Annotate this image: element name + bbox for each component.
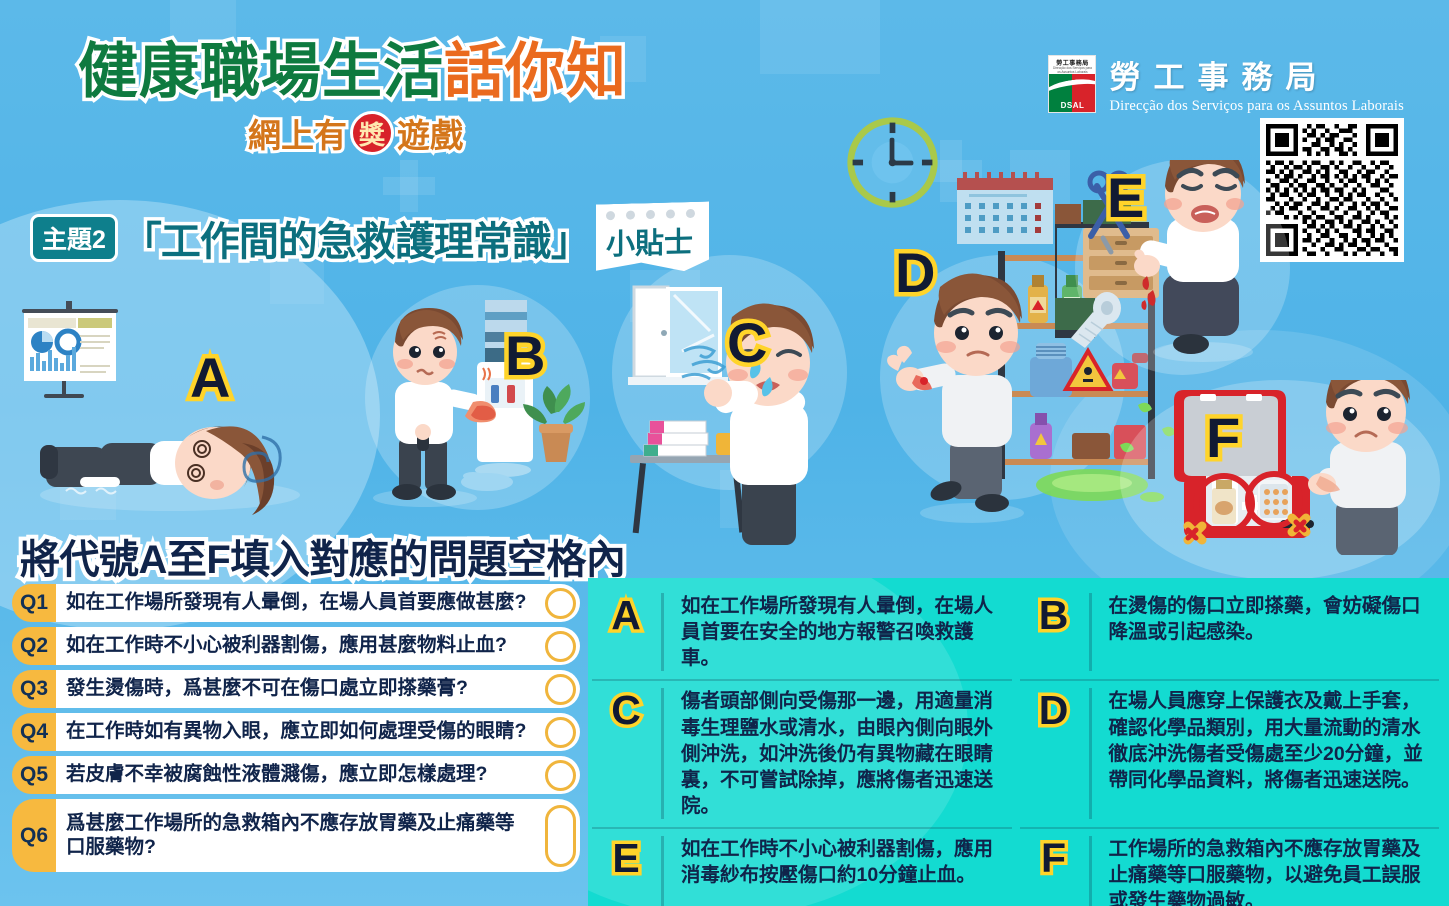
answer-circle[interactable] <box>545 717 576 748</box>
subtitle-right-text: 遊戲 <box>397 109 463 157</box>
fainted-person-illustration <box>40 426 300 515</box>
answer-circle[interactable] <box>545 588 576 619</box>
answer-text: 在燙傷的傷口立即搽藥，會妨礙傷口降溫或引起感染。 <box>1101 593 1434 645</box>
scene-b: B <box>355 290 605 535</box>
scene-letter-b: B <box>505 328 545 384</box>
answer-slot[interactable] <box>540 584 580 622</box>
sticky-note-holes <box>606 209 695 220</box>
answer-cell: D 在場人員應穿上保護衣及戴上手套，確認化學品類別，用大量流動的清水徹底沖洗傷者… <box>1020 681 1440 829</box>
answer-letter: B <box>1028 593 1080 636</box>
logo-name-cn: 勞工事務局 <box>1109 52 1404 97</box>
scene-letter-e: E <box>1107 170 1144 226</box>
scene-e: E <box>1055 160 1365 400</box>
scene-letter-f: F <box>1206 410 1240 466</box>
clock-icon <box>845 115 940 210</box>
answer-cell: A 如在工作場所發現有人暈倒，在場人員首要在安全的地方報警召喚救護車。 <box>592 586 1012 681</box>
theme-tag: 主題2 <box>30 214 118 262</box>
scene-letter-a: A <box>190 350 230 406</box>
scene-c: C <box>612 255 912 545</box>
answer-cell: E 如在工作時不小心被利器割傷，應用消毒紗布按壓傷口約10分鐘止血。 <box>592 829 1012 906</box>
question-row[interactable]: Q6 爲甚麼工作場所的急救箱內不應存放胃藥及止痛藥等口服藥物? <box>12 799 580 872</box>
answer-letter: F <box>1028 836 1080 879</box>
scene-f: F <box>1140 380 1449 555</box>
calendar-icon <box>955 170 1055 248</box>
question-row[interactable]: Q2 如在工作時不小心被利器割傷，應用甚麼物料止血? <box>12 627 580 665</box>
title-orange-text: 話你知 <box>444 38 627 105</box>
answer-text: 如在工作場所發現有人暈倒，在場人員首要在安全的地方報警召喚救護車。 <box>673 593 1006 671</box>
chemical-burn-worker-illustration <box>887 273 1024 523</box>
answer-text: 傷者頭部側向受傷那一邊，用適量消毒生理鹽水或清水，由眼內側向眼外側沖洗，如沖洗後… <box>673 688 1006 819</box>
answer-text: 在場人員應穿上保護衣及戴上手套，確認化學品類別，用大量流動的清水徹底沖洗傷者受傷… <box>1101 688 1434 793</box>
bg-cross-icon <box>383 177 435 195</box>
question-row[interactable]: Q4 在工作時如有異物入眼，應立即如何處理受傷的眼睛? <box>12 713 580 751</box>
logo-text-block: 勞工事務局 Direcção dos Serviços para os Assu… <box>1109 52 1404 115</box>
logo-name-pt: Direcção dos Serviços para os Assuntos L… <box>1109 98 1404 115</box>
scene-letter-d: D <box>895 245 935 301</box>
answer-divider <box>1089 836 1092 906</box>
answer-text: 工作場所的急救箱內不應存放胃藥及止痛藥等口服藥物，以避免員工誤服或發生藥物過敏。 <box>1101 836 1434 906</box>
answer-cell: B 在燙傷的傷口立即搽藥，會妨礙傷口降溫或引起感染。 <box>1020 586 1440 681</box>
answer-circle[interactable] <box>545 760 576 791</box>
chemical-bottle-icon <box>1030 413 1052 459</box>
scene-letter-c: C <box>727 315 767 371</box>
question-badge: Q6 <box>12 799 56 872</box>
prize-badge: 獎 <box>350 111 394 155</box>
answer-letter: A <box>600 593 652 636</box>
question-badge: Q3 <box>12 670 56 708</box>
logo-mark-abbr: DSAL <box>1049 101 1095 110</box>
answer-divider <box>661 688 664 819</box>
dsal-logo-mark-icon: 勞工事務局 Direcção dos Serviços para os Assu… <box>1048 55 1096 113</box>
poster-subtitle: 網上有 獎 遊戲 <box>248 109 718 157</box>
answer-letter: C <box>600 688 652 731</box>
answer-slot[interactable] <box>540 627 580 665</box>
bg-square <box>760 0 880 74</box>
question-badge: Q4 <box>12 713 56 751</box>
answer-text: 如在工作時不小心被利器割傷，應用消毒紗布按壓傷口約10分鐘止血。 <box>673 836 1006 888</box>
answer-letter: D <box>1028 688 1080 731</box>
instruction-headline: 將代號A至F填入對應的問題空格內 <box>20 527 625 585</box>
question-badge: Q2 <box>12 627 56 665</box>
question-row[interactable]: Q1 如在工作場所發現有人暈倒，在場人員首要應做甚麼? <box>12 584 580 622</box>
scene-a: A <box>10 295 340 530</box>
answer-cell: C 傷者頭部側向受傷那一邊，用適量消毒生理鹽水或清水，由眼內側向眼外側沖洗，如沖… <box>592 681 1012 829</box>
theme-banner: 主題2 「工作間的急救護理常識」 小貼士 <box>30 203 709 272</box>
answer-divider <box>1089 593 1092 671</box>
answer-cell: F 工作場所的急救箱內不應存放胃藥及止痛藥等口服藥物，以避免員工誤服或發生藥物過… <box>1020 829 1440 906</box>
answer-slot[interactable] <box>540 799 580 872</box>
question-text: 若皮膚不幸被腐蝕性液體濺傷，應立即怎樣處理? <box>56 756 540 794</box>
question-text: 爲甚麼工作場所的急救箱內不應存放胃藥及止痛藥等口服藥物? <box>56 799 540 872</box>
answer-divider <box>661 836 664 906</box>
theme-title: 「工作間的急救護理常識」 <box>122 209 590 267</box>
question-row[interactable]: Q3 發生燙傷時，爲甚麼不可在傷口處立即搽藥膏? <box>12 670 580 708</box>
question-badge: Q5 <box>12 756 56 794</box>
logo-mark-pt: Direcção dos Serviços para os Assuntos L… <box>1051 66 1093 75</box>
question-badge: Q1 <box>12 584 56 622</box>
answer-divider <box>1089 688 1092 819</box>
answer-list: A 如在工作場所發現有人暈倒，在場人員首要在安全的地方報警召喚救護車。 B 在燙… <box>588 578 1449 906</box>
answer-divider <box>661 593 664 671</box>
pill-blister-icon <box>1260 484 1288 518</box>
stomach-ache-worker-illustration <box>1308 380 1410 555</box>
open-window-icon <box>628 287 728 385</box>
title-green-text: 健康職場生活 <box>78 38 444 105</box>
question-text: 發生燙傷時，爲甚麼不可在傷口處立即搽藥膏? <box>56 670 540 708</box>
first-aid-kit-icon <box>1174 390 1314 540</box>
poster-main-title: 健康職場生活話你知 <box>78 40 718 103</box>
answer-circle[interactable] <box>545 674 576 705</box>
cut-finger-worker-illustration <box>1134 160 1253 362</box>
question-text: 如在工作時不小心被利器割傷，應用甚麼物料止血? <box>56 627 540 665</box>
question-row[interactable]: Q5 若皮膚不幸被腐蝕性液體濺傷，應立即怎樣處理? <box>12 756 580 794</box>
question-text: 在工作時如有異物入眼，應立即如何處理受傷的眼睛? <box>56 713 540 751</box>
answer-slot[interactable] <box>540 713 580 751</box>
poster-title-block: 健康職場生活話你知 網上有 獎 遊戲 <box>78 40 718 157</box>
subtitle-left-text: 網上有 <box>248 109 347 157</box>
answer-slot[interactable] <box>540 756 580 794</box>
answer-circle[interactable] <box>545 631 576 662</box>
dsal-logo: 勞工事務局 Direcção dos Serviços para os Assu… <box>1048 52 1404 115</box>
poster-root: 健康職場生活話你知 網上有 獎 遊戲 主題2 「工作間的急救護理常識」 小貼士 … <box>0 0 1449 906</box>
question-list: Q1 如在工作場所發現有人暈倒，在場人員首要應做甚麼? Q2 如在工作時不小心被… <box>0 578 588 906</box>
question-text: 如在工作場所發現有人暈倒，在場人員首要應做甚麼? <box>56 584 540 622</box>
hazard-bottle-icon <box>1028 275 1048 323</box>
answer-circle[interactable] <box>545 805 576 867</box>
answer-letter: E <box>600 836 652 879</box>
quiz-section: Q1 如在工作場所發現有人暈倒，在場人員首要應做甚麼? Q2 如在工作時不小心被… <box>0 578 1449 906</box>
presentation-board-icon <box>22 301 118 398</box>
answer-slot[interactable] <box>540 670 580 708</box>
